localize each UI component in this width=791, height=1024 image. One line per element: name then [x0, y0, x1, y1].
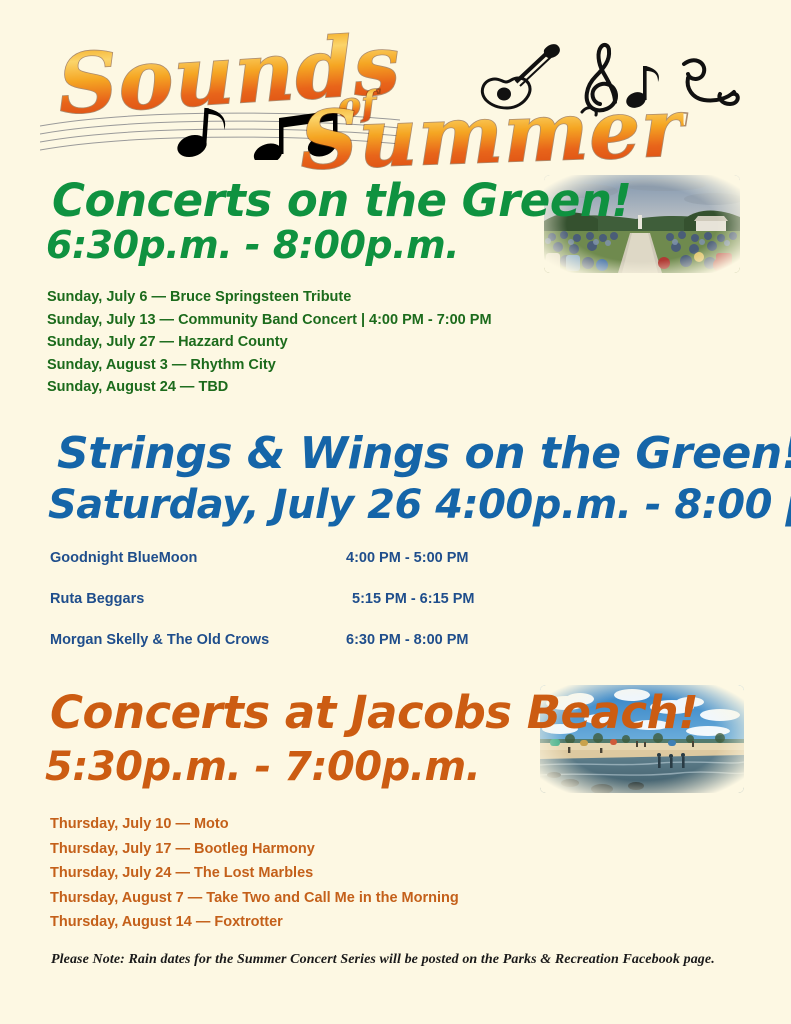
section-time-concerts-at-jacobs-beach: 5:30p.m. - 7:00p.m.	[45, 747, 480, 788]
list-item: Thursday, August 7 — Take Two and Call M…	[50, 886, 670, 911]
list-item: Sunday, July 27 — Hazzard County	[47, 331, 667, 354]
list-item: Ruta Beggars 5:15 PM - 6:15 PM	[50, 591, 610, 632]
section-time-strings-and-wings: Saturday, July 26 4:00p.m. - 8:00 p.m.	[48, 485, 791, 526]
section-title-concerts-on-the-green: Concerts on the Green!	[52, 178, 631, 224]
list-item: Thursday, July 10 — Moto	[50, 812, 670, 837]
treble-clef-icon	[587, 45, 616, 110]
blue-lineup-list: Goodnight BlueMoon 4:00 PM - 5:00 PM Rut…	[50, 550, 610, 673]
guitar-icon	[482, 52, 552, 108]
band-time: 5:15 PM - 6:15 PM	[346, 591, 475, 607]
section-time-concerts-on-the-green: 6:30p.m. - 8:00p.m.	[46, 226, 459, 265]
list-item: Thursday, July 17 — Bootleg Harmony	[50, 837, 670, 862]
saxophone-icon	[684, 60, 738, 104]
list-item: Thursday, August 14 — Foxtrotter	[50, 910, 670, 935]
list-item: Sunday, August 24 — TBD	[47, 376, 667, 399]
guitar-headstock-icon	[544, 44, 560, 58]
section-title-concerts-at-jacobs-beach: Concerts at Jacobs Beach!	[50, 690, 698, 736]
list-item: Goodnight BlueMoon 4:00 PM - 5:00 PM	[50, 550, 610, 591]
orange-event-list: Thursday, July 10 — Moto Thursday, July …	[50, 812, 670, 935]
eighth-note-icon	[624, 66, 659, 110]
rain-date-note: Please Note: Rain dates for the Summer C…	[51, 952, 715, 968]
green-event-list: Sunday, July 6 — Bruce Springsteen Tribu…	[47, 286, 667, 399]
list-item: Sunday, August 3 — Rhythm City	[47, 354, 667, 377]
list-item: Morgan Skelly & The Old Crows 6:30 PM - …	[50, 632, 610, 673]
concert-series-poster: Sounds Sounds of of Summer Summer	[0, 0, 791, 1024]
band-name: Ruta Beggars	[50, 591, 346, 607]
band-time: 6:30 PM - 8:00 PM	[346, 632, 469, 648]
poster-logo: Sounds Sounds of of Summer Summer	[0, 0, 791, 170]
list-item: Sunday, July 6 — Bruce Springsteen Tribu…	[47, 286, 667, 309]
list-item: Sunday, July 13 — Community Band Concert…	[47, 309, 667, 332]
list-item: Thursday, July 24 — The Lost Marbles	[50, 861, 670, 886]
band-time: 4:00 PM - 5:00 PM	[346, 550, 469, 566]
band-name: Morgan Skelly & The Old Crows	[50, 632, 346, 648]
section-title-strings-and-wings: Strings & Wings on the Green!	[57, 432, 791, 477]
band-name: Goodnight BlueMoon	[50, 550, 346, 566]
music-instrument-icons	[470, 38, 740, 120]
